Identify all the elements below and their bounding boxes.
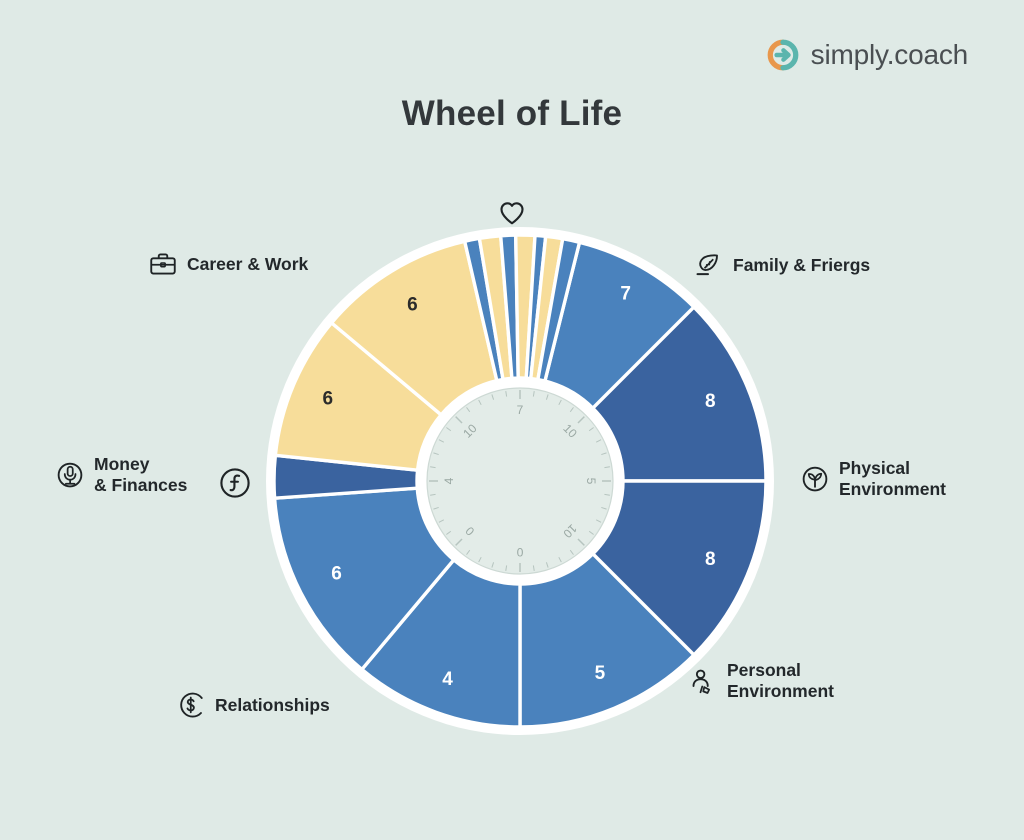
label-money-line-1: Money bbox=[94, 454, 149, 474]
label-physical-line-2: Environment bbox=[839, 479, 946, 499]
label-family-friends-text: Family & Friergs bbox=[733, 255, 870, 276]
leaf-icon bbox=[694, 250, 724, 280]
dial-number: 4 bbox=[442, 477, 456, 484]
label-personal-line-1: Personal bbox=[727, 660, 801, 680]
person-icon bbox=[688, 666, 718, 696]
label-relationships: Relationships bbox=[176, 690, 330, 720]
microphone-circle-icon bbox=[55, 460, 85, 490]
label-career-work-text: Career & Work bbox=[187, 254, 308, 275]
briefcase-icon bbox=[148, 249, 178, 279]
label-heart bbox=[497, 198, 527, 228]
simply-coach-logo-icon bbox=[766, 38, 800, 72]
page-title: Wheel of Life bbox=[0, 94, 1024, 134]
label-career-work: Career & Work bbox=[148, 249, 308, 279]
label-physical-environment-text: Physical Environment bbox=[839, 458, 946, 499]
dial-number: 7 bbox=[517, 403, 524, 417]
label-money-finances: Money & Finances bbox=[55, 454, 187, 495]
label-physical-line-1: Physical bbox=[839, 458, 910, 478]
label-personal-line-2: Environment bbox=[727, 681, 834, 701]
label-family-friends: Family & Friergs bbox=[694, 250, 870, 280]
label-personal-environment: Personal Environment bbox=[688, 660, 834, 701]
dial-number: 5 bbox=[584, 478, 598, 485]
label-money-finances-text: Money & Finances bbox=[94, 454, 187, 495]
label-relationships-text: Relationships bbox=[215, 695, 330, 716]
label-physical-environment: Physical Environment bbox=[800, 458, 946, 499]
brand-logo: simply.coach bbox=[766, 38, 968, 72]
label-money-line-2: & Finances bbox=[94, 475, 187, 495]
dial-number: 0 bbox=[516, 545, 523, 559]
f-circle-icon bbox=[218, 466, 252, 500]
dollar-circle-icon bbox=[176, 690, 206, 720]
heart-icon bbox=[497, 198, 527, 228]
brand-name: simply.coach bbox=[811, 41, 968, 69]
sprout-circle-icon bbox=[800, 464, 830, 494]
label-personal-environment-text: Personal Environment bbox=[727, 660, 834, 701]
